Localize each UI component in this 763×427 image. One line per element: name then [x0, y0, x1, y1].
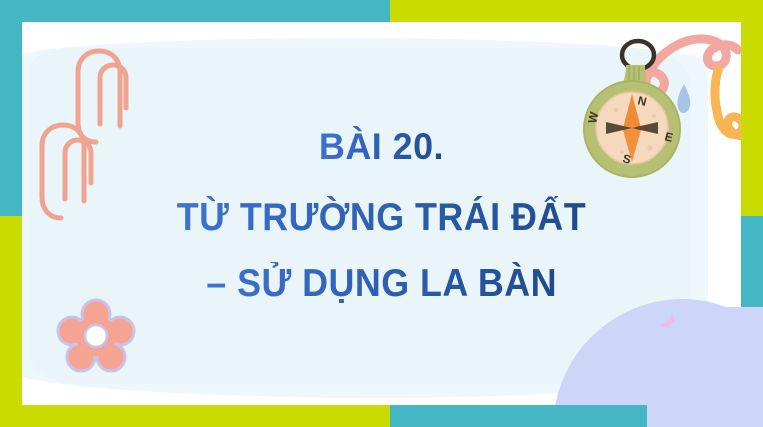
slide-canvas: N E S W BÀI 20	[0, 0, 763, 427]
slide-title-block: BÀI 20. TỪ TRƯỜNG TRÁI ĐẤT – SỬ DỤNG LA …	[22, 22, 741, 405]
frame-band-bottom-left	[0, 405, 390, 427]
title-line-3: – SỬ DỤNG LA BÀN	[206, 262, 557, 306]
title-line-2: TỪ TRƯỜNG TRÁI ĐẤT	[177, 196, 586, 240]
title-line-1: BÀI 20.	[319, 126, 444, 168]
frame-band-top-left	[0, 0, 390, 22]
frame-band-left-top	[0, 0, 22, 216]
frame-band-top-right	[390, 0, 763, 22]
frame-band-right-top	[741, 0, 763, 216]
frame-band-left-bottom	[0, 216, 22, 427]
title-card: N E S W BÀI 20	[22, 22, 741, 405]
